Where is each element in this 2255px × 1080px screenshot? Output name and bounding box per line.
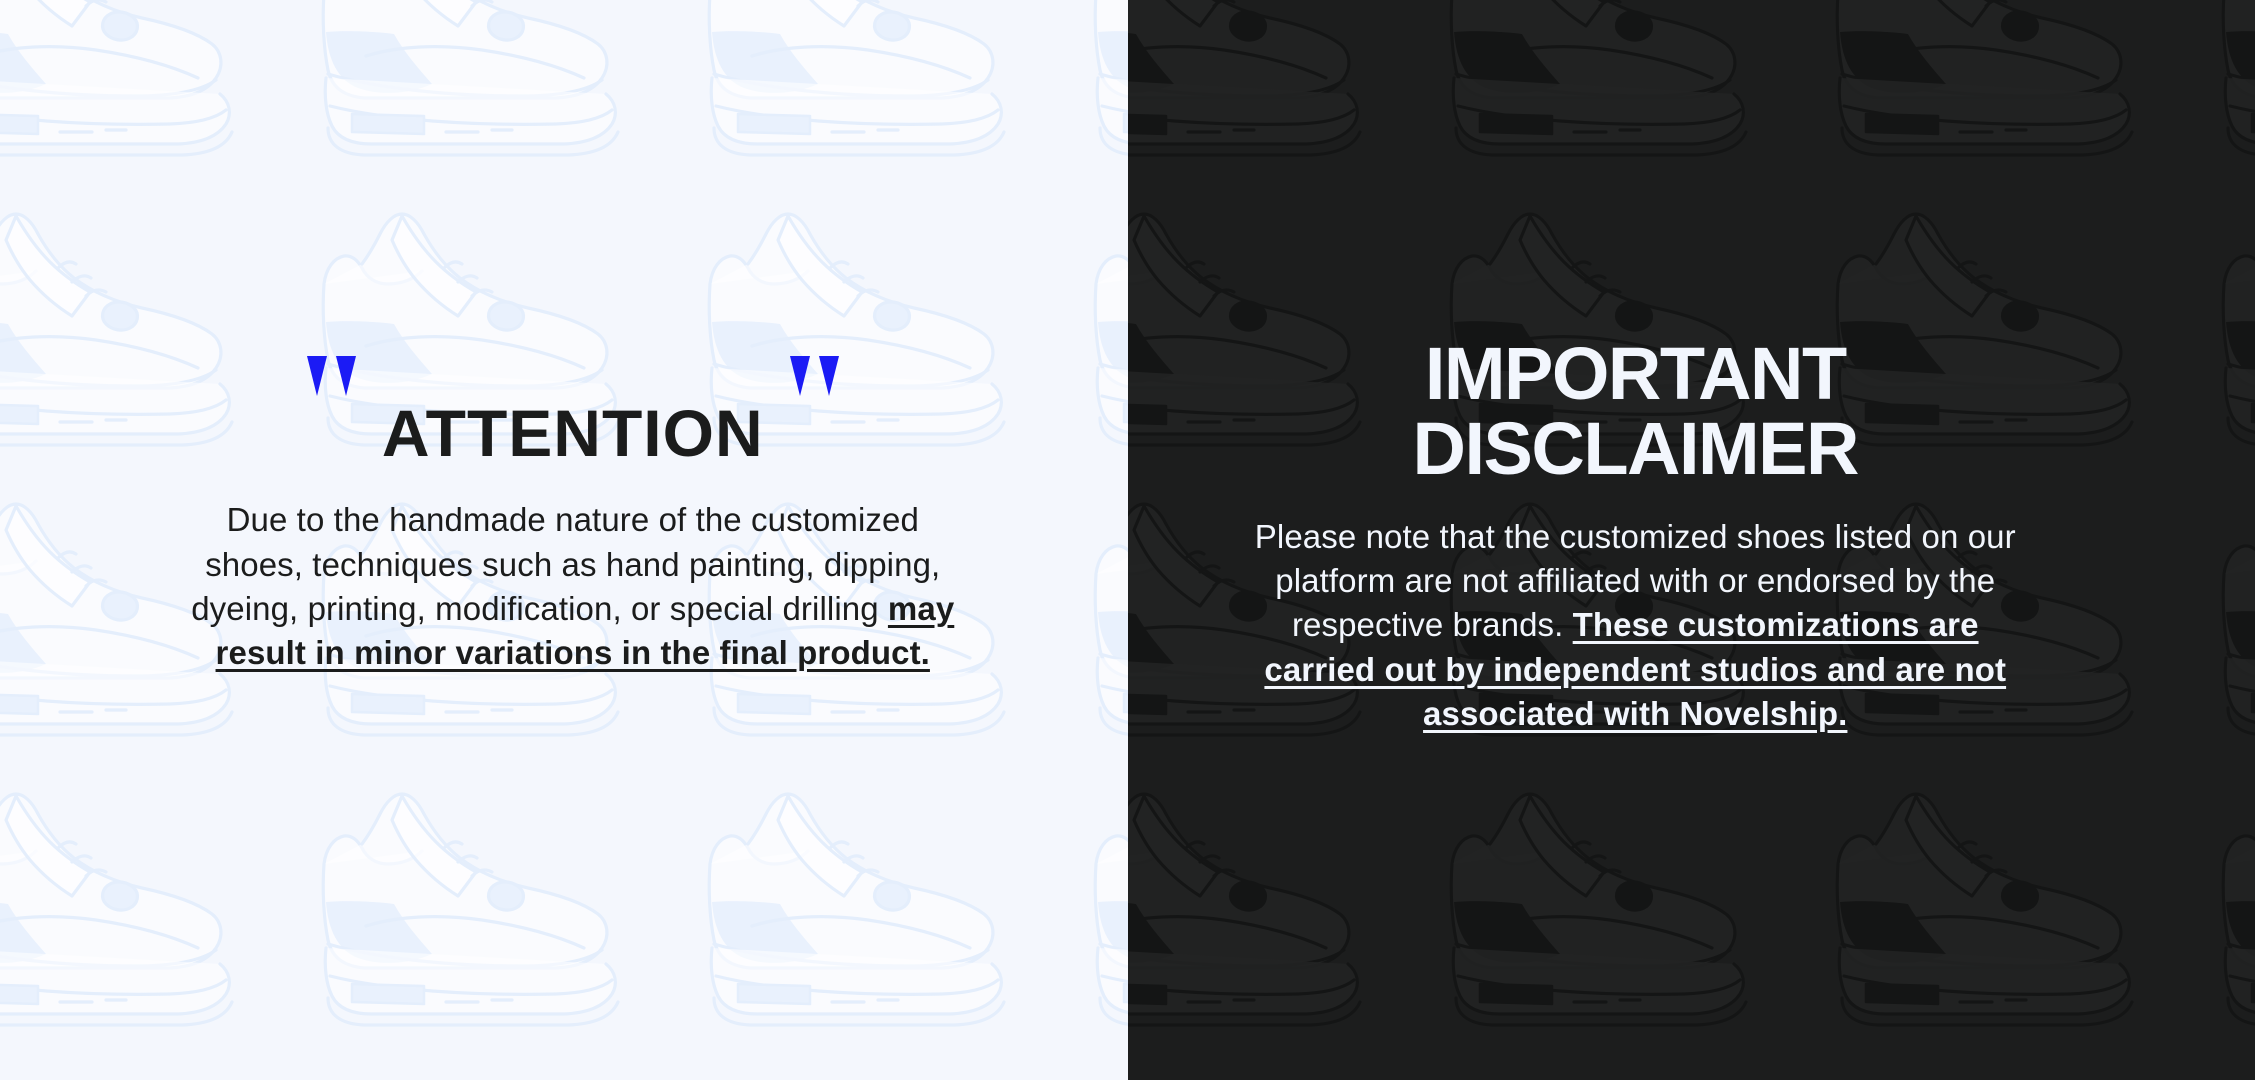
double-exclamation-mark-icon	[790, 401, 839, 466]
disclaimer-heading-line-1: IMPORTANT	[1128, 336, 2144, 411]
disclaimer-heading-line-2: DISCLAIMER	[1128, 411, 2144, 486]
disclaimer-body: Please note that the customized shoes li…	[1235, 515, 2035, 736]
attention-body-lead: Due to the handmade nature of the custom…	[191, 501, 940, 626]
disclaimer-panel: IMPORTANT DISCLAIMER Please note that th…	[1128, 0, 2255, 1080]
disclaimer-heading: IMPORTANT DISCLAIMER	[1128, 336, 2144, 487]
attention-content: ATTENTION Due to the handmade nature of …	[0, 401, 1128, 676]
attention-body: Due to the handmade nature of the custom…	[178, 498, 968, 675]
attention-heading: ATTENTION	[18, 401, 1128, 466]
disclaimer-content: IMPORTANT DISCLAIMER Please note that th…	[1128, 336, 2255, 736]
attention-heading-label: ATTENTION	[382, 401, 764, 466]
attention-panel: ATTENTION Due to the handmade nature of …	[0, 0, 1128, 1080]
double-exclamation-mark-icon	[307, 401, 356, 466]
